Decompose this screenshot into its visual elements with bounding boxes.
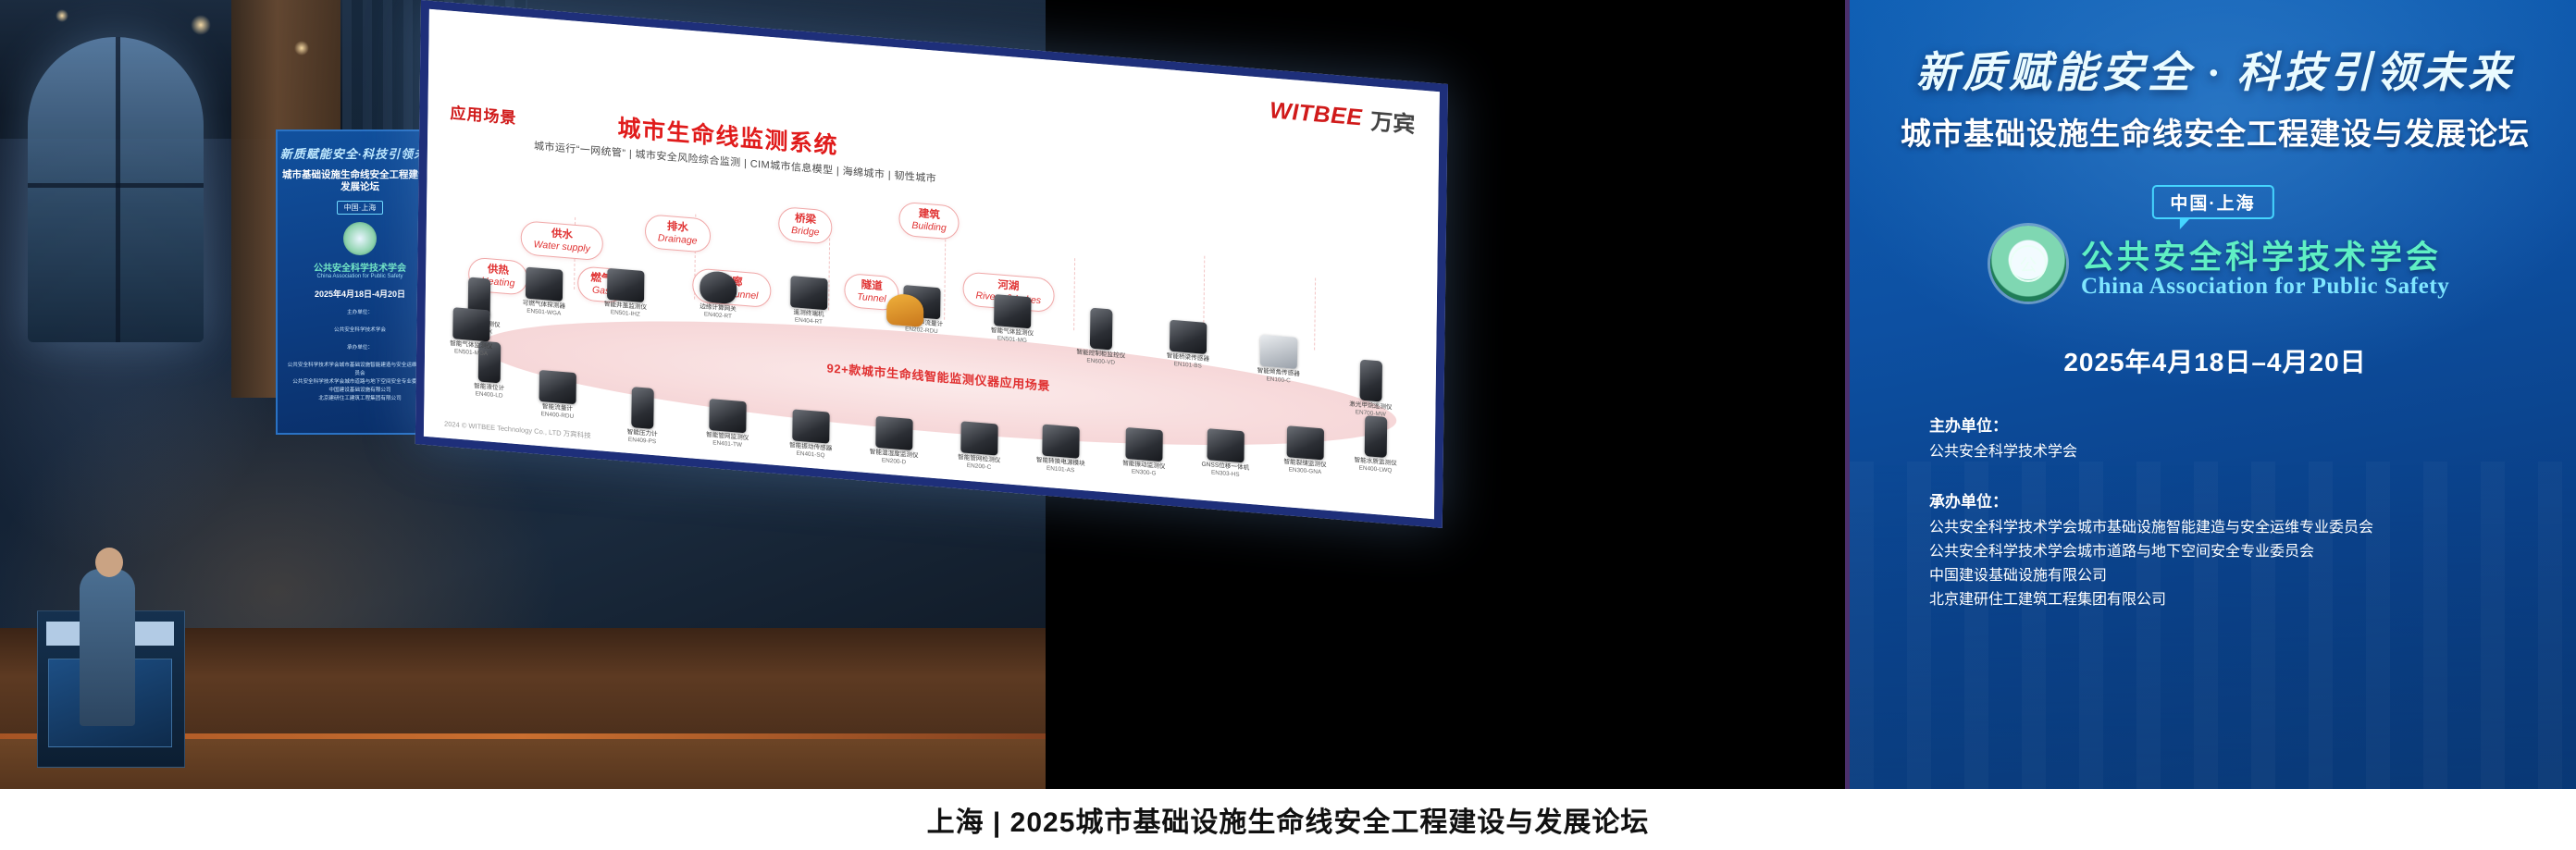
standee-seal-icon [343, 222, 377, 255]
coorganizer-line: 公共安全科学技术学会城市基础设施智能建造与安全运维专业委员会 [1929, 516, 2373, 540]
device-item[interactable]: 遥测终端机 EN404-RT [766, 274, 852, 328]
banner-forum-title: 城市基础设施生命线安全工程建设与发展论坛 [1850, 109, 2576, 154]
device-item[interactable]: 智能管网检测仪 EN200-C [936, 419, 1022, 474]
device-item-dome[interactable] [862, 290, 947, 331]
device-item[interactable]: 智能水质监测仪 EN400-LWQ [1332, 413, 1418, 476]
device-item[interactable]: 边缘计算网关 EN402-RT [675, 268, 762, 323]
device-icon [994, 294, 1031, 328]
ceiling-light-icon [294, 41, 309, 55]
hall-window [28, 37, 204, 342]
device-icon [1287, 425, 1324, 460]
device-icon-dome [886, 293, 923, 327]
device-icon [875, 416, 912, 450]
device-item[interactable]: 智能控制柜监控仪 EN600-VD [1059, 305, 1145, 369]
logo-brand-cn: 万宾 [1370, 103, 1415, 139]
device-icon [1207, 428, 1244, 462]
caption-bar: 上海 | 2025城市基础设施生命线安全工程建设与发展论坛 [0, 789, 2576, 850]
device-icon [960, 421, 997, 455]
coorganizer-heading: 承办单位： [1929, 488, 2373, 511]
device-icon [1125, 427, 1162, 462]
scene-bubble-building[interactable]: 建筑 Building [898, 202, 960, 241]
logo-brand-en: WITBEE [1269, 97, 1363, 131]
coorganizer-line: 中国建设基础设施有限公司 [1929, 564, 2373, 588]
scene-bubble-water-supply[interactable]: 供水 Water supply [521, 220, 604, 262]
association-seal-icon: 公 [1990, 226, 2066, 302]
device-item[interactable]: 智能振动传感器 EN401-SQ [768, 407, 854, 462]
device-item[interactable]: 智能井盖监测仪 EN501-IHZ [583, 266, 669, 321]
device-icon [1170, 320, 1207, 354]
banner-calligraphy-slogan: 新质赋能安全 · 科技引领未来 [1850, 39, 2576, 100]
device-icon [1260, 335, 1297, 369]
witbee-logo: WITBEE 万宾 [1269, 94, 1416, 139]
device-item[interactable]: GNSS位移一体机 EN303-HS [1183, 426, 1269, 481]
seal-glyph: 公 [2010, 245, 2047, 282]
device-item[interactable]: 激光甲烷遥测仪 EN700-MW [1328, 357, 1414, 421]
scene-label-en: Bridge [791, 225, 820, 239]
device-icon [709, 399, 746, 433]
device-item[interactable]: 智能压力计 EN409-PS [600, 384, 686, 448]
host-heading: 主办单位： [1929, 413, 2077, 436]
projection-screen: WITBEE 万宾 应用场景 城市生命线监测系统 城市运行“一网统管” | 城市… [421, 0, 1864, 462]
device-icon [452, 307, 489, 341]
speaker-person [80, 569, 135, 726]
device-item[interactable]: 智能桥梁传感器 EN101-BS [1146, 318, 1232, 373]
device-item[interactable]: 智能流量计 EN400-RDU [514, 368, 601, 423]
scene-bubble-bridge[interactable]: 桥梁 Bridge [778, 206, 833, 245]
standee-location-badge: 中国·上海 [337, 201, 383, 215]
coorganizer-block: 承办单位： 公共安全科学技术学会城市基础设施智能建造与安全运维专业委员会 公共安… [1929, 488, 2373, 612]
device-item[interactable]: 智能气体监测仪 EN501-MGA [428, 305, 514, 360]
device-item[interactable]: 智能温湿度监测仪 EN200-D [851, 414, 937, 469]
device-icon [792, 409, 829, 443]
banner-association-cn: 公共安全科学技术学会 [2081, 231, 2442, 278]
scene-label-en: Building [911, 220, 947, 234]
host-block: 主办单位： 公共安全科学技术学会 [1929, 413, 2077, 464]
speaker-head [95, 548, 123, 577]
device-icon [607, 268, 644, 302]
coorganizer-line: 北京建研住工建筑工程集团有限公司 [1929, 588, 2373, 612]
device-item[interactable]: 智能转换电源模块 EN101-AS [1018, 422, 1104, 476]
device-item[interactable]: 智能气体监测仪 EN501-MG [970, 292, 1056, 347]
ceiling-light-icon [191, 15, 211, 35]
screenshot-root: 新质赋能安全·科技引领未来 城市基础设施生命线安全工程建设与发展论坛 中国·上海… [0, 0, 2576, 850]
device-icon [526, 267, 563, 302]
device-icon [539, 370, 576, 404]
device-icon [1365, 415, 1388, 458]
scene-label-en: Drainage [658, 232, 698, 247]
banner-date: 2025年4月18日–4月20日 [1850, 342, 2576, 379]
conference-banner: 新质赋能安全 · 科技引领未来 城市基础设施生命线安全工程建设与发展论坛 中国·… [1845, 0, 2576, 850]
device-icon [631, 387, 654, 429]
device-icon [1090, 308, 1113, 351]
standee-calligraphy: 新质赋能安全·科技引领未来 [278, 144, 442, 162]
device-icon [1042, 425, 1079, 459]
device-icon [790, 276, 827, 310]
presentation-slide: WITBEE 万宾 应用场景 城市生命线监测系统 城市运行“一网统管” | 城市… [415, 0, 1448, 528]
device-item[interactable]: 智能倾角传感器 EN100-C [1236, 333, 1322, 388]
slide-scene-tag: 应用场景 [450, 100, 516, 129]
device-icon [1359, 360, 1382, 402]
banner-location-badge: 中国·上海 [2151, 185, 2273, 219]
caption-text: 上海 | 2025城市基础设施生命线安全工程建设与发展论坛 [927, 799, 1650, 840]
device-icon [700, 270, 737, 304]
host-line: 公共安全科学技术学会 [1929, 440, 2077, 464]
scene-bubble-drainage[interactable]: 排水 Drainage [645, 214, 711, 253]
ceiling-light-icon [56, 9, 68, 22]
standee-forum-title: 城市基础设施生命线安全工程建设与发展论坛 [278, 169, 442, 193]
banner-association-en: China Association for Public Safety [2081, 274, 2449, 300]
device-item[interactable]: 智能振动监测仪 EN300-G [1101, 425, 1187, 480]
coorganizer-line: 公共安全科学技术学会城市道路与地下空间安全专业委员会 [1929, 540, 2373, 564]
device-item[interactable]: 智能管网监测仪 EN401-TW [685, 397, 771, 451]
